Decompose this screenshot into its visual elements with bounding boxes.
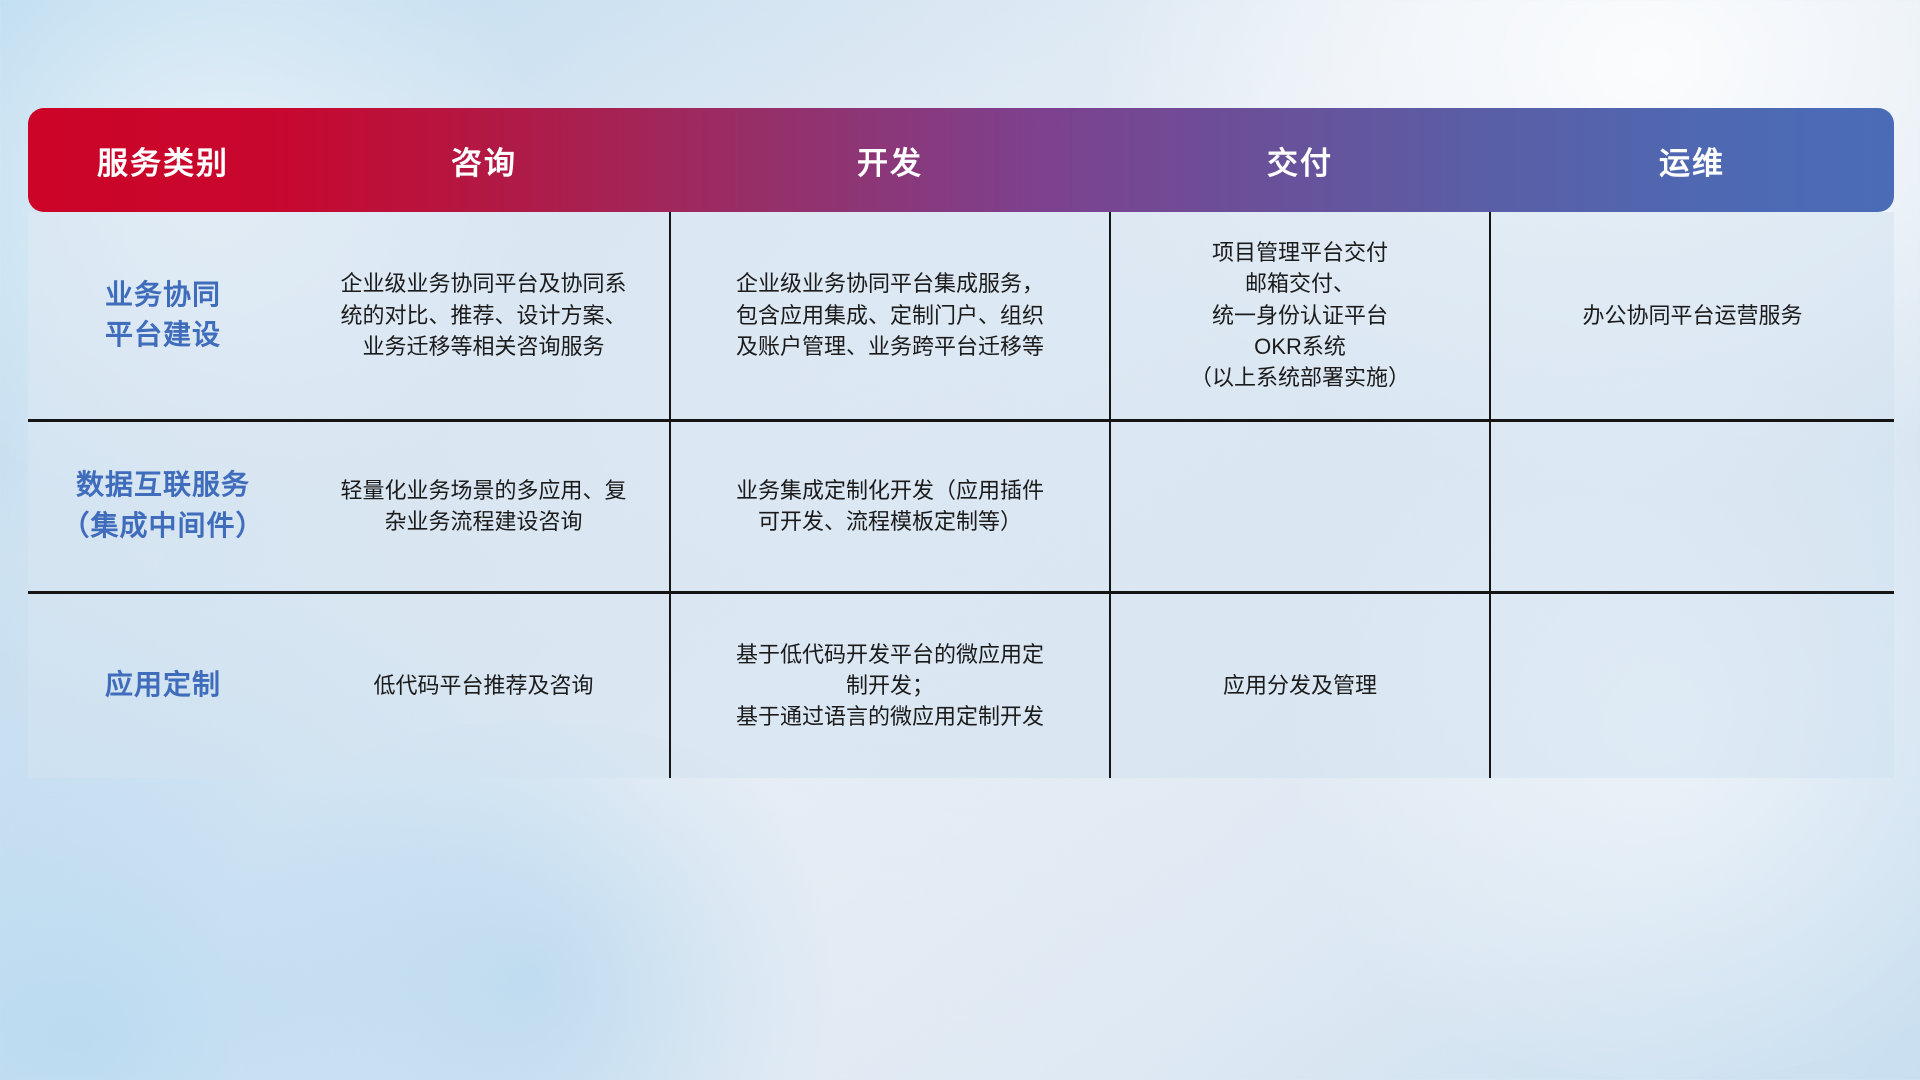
row-label-data-interconnect: 数据互联服务 （集成中间件）: [28, 420, 298, 592]
table-body: 业务协同 平台建设 企业级业务协同平台及协同系 统的对比、推荐、设计方案、 业务…: [28, 212, 1894, 778]
header-cell-operations: 运维: [1490, 108, 1894, 212]
row-label-app-customization: 应用定制: [28, 592, 298, 778]
service-matrix-table: 服务类别 咨询 开发 交付 运维 业务协同 平台建设 企业级业务协同平台及协: [28, 108, 1894, 778]
cell-r3-development: 基于低代码开发平台的微应用定 制开发； 基于通过语言的微应用定制开发: [670, 592, 1110, 778]
header-cell-delivery: 交付: [1110, 108, 1490, 212]
cell-r2-consulting: 轻量化业务场景的多应用、复 杂业务流程建设咨询: [298, 420, 670, 592]
cell-r2-operations: [1490, 420, 1894, 592]
row-label-business-collaboration: 业务协同 平台建设: [28, 212, 298, 420]
header-cell-service-category: 服务类别: [28, 108, 298, 212]
header-row: 服务类别 咨询 开发 交付 运维: [28, 108, 1894, 212]
cell-r3-consulting: 低代码平台推荐及咨询: [298, 592, 670, 778]
table-header: 服务类别 咨询 开发 交付 运维: [28, 108, 1894, 212]
cell-r1-delivery: 项目管理平台交付 邮箱交付、 统一身份认证平台 OKR系统 （以上系统部署实施）: [1110, 212, 1490, 420]
header-cell-development: 开发: [670, 108, 1110, 212]
header-label-operations: 运维: [1659, 146, 1725, 181]
cell-r1-operations: 办公协同平台运营服务: [1490, 212, 1894, 420]
cell-r1-consulting: 企业级业务协同平台及协同系 统的对比、推荐、设计方案、 业务迁移等相关咨询服务: [298, 212, 670, 420]
cell-r2-development: 业务集成定制化开发（应用插件 可开发、流程模板定制等）: [670, 420, 1110, 592]
cell-r3-delivery: 应用分发及管理: [1110, 592, 1490, 778]
cell-r3-operations: [1490, 592, 1894, 778]
header-label-service-category: 服务类别: [97, 146, 229, 181]
header-label-development: 开发: [857, 146, 923, 181]
table-row: 数据互联服务 （集成中间件） 轻量化业务场景的多应用、复 杂业务流程建设咨询 业…: [28, 420, 1894, 592]
header-label-delivery: 交付: [1267, 146, 1333, 181]
cell-r2-delivery: [1110, 420, 1490, 592]
header-label-consulting: 咨询: [451, 146, 517, 181]
cell-r1-development: 企业级业务协同平台集成服务， 包含应用集成、定制门户、组织 及账户管理、业务跨平…: [670, 212, 1110, 420]
table-row: 应用定制 低代码平台推荐及咨询 基于低代码开发平台的微应用定 制开发； 基于通过…: [28, 592, 1894, 778]
header-cell-consulting: 咨询: [298, 108, 670, 212]
table-row: 业务协同 平台建设 企业级业务协同平台及协同系 统的对比、推荐、设计方案、 业务…: [28, 212, 1894, 420]
service-matrix-table-wrapper: 服务类别 咨询 开发 交付 运维 业务协同 平台建设 企业级业务协同平台及协: [28, 108, 1894, 778]
